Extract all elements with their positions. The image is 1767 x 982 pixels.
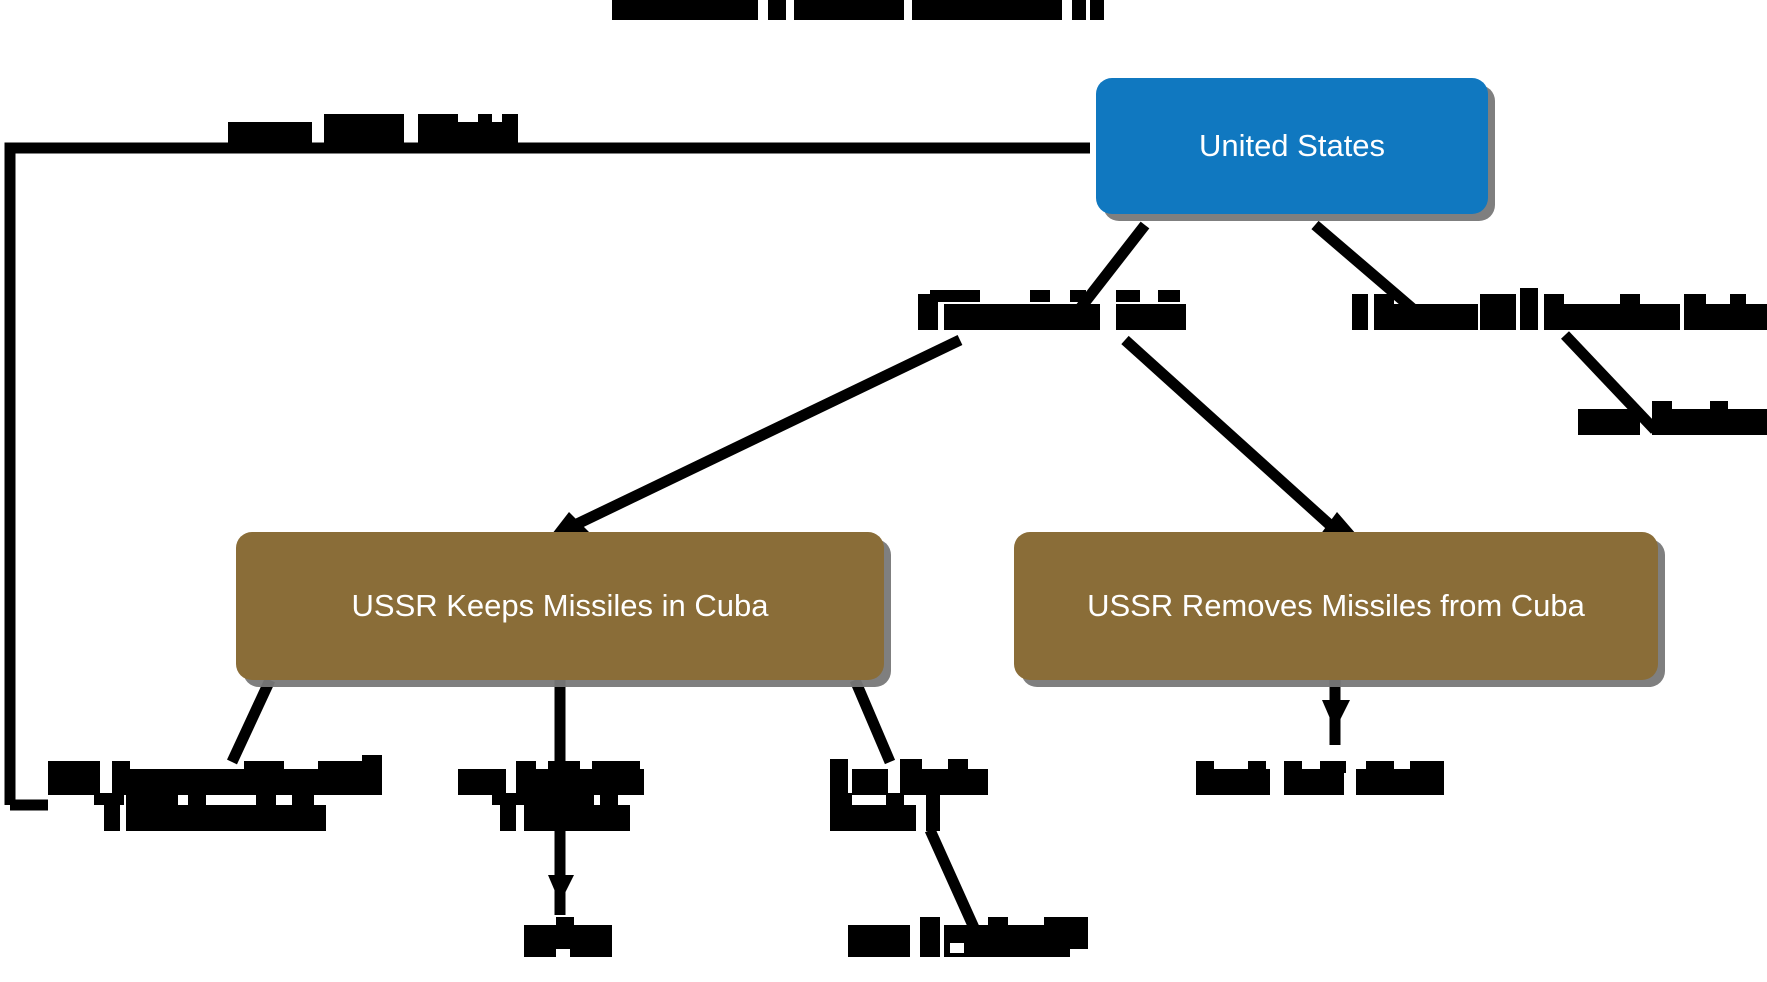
arrowhead-removes-leaf bbox=[1322, 700, 1350, 730]
leaf-bottom-3: ██ █████ ████ bbox=[830, 765, 1010, 837]
leaf-bottom-backdown: ████████ █████ bbox=[848, 925, 1088, 961]
arrowhead-keeps bbox=[552, 512, 589, 534]
edge-keeps-to-leaf3 bbox=[855, 680, 890, 762]
node-ussr-removes-missiles[interactable]: USSR Removes Missiles from Cuba bbox=[1014, 532, 1658, 680]
leaf-bottom-war: ████ bbox=[512, 925, 622, 961]
arrowhead-war bbox=[548, 875, 574, 903]
leaf-bottom-2: ███ ██████ ███████ bbox=[458, 765, 688, 837]
node-united-states-label: United States bbox=[1199, 129, 1385, 163]
node-ussr-keeps-missiles-label: USSR Keeps Missiles in Cuba bbox=[352, 589, 769, 623]
edge-label-center: ████████ ████ bbox=[918, 300, 1198, 336]
edge-label-left-top: ██ ██████ ████ bbox=[228, 118, 508, 154]
leaf-right-far: ███ ███████ bbox=[1578, 405, 1767, 441]
edge-keeps-to-leaf1 bbox=[232, 680, 270, 762]
node-united-states[interactable]: United States bbox=[1096, 78, 1488, 214]
edge-threaten-to-removes bbox=[1125, 340, 1330, 525]
diagram-canvas: ██████ ████████ ████ ██ ██████ ████ ████… bbox=[0, 0, 1767, 982]
diagram-title: ██████ ████████ ████ bbox=[612, 0, 1112, 26]
edge-us-to-leftmost bbox=[10, 148, 1090, 805]
edge-leaf3-to-backdown bbox=[930, 830, 975, 930]
leaf-bottom-4: ███ ███ ███ bbox=[1196, 765, 1466, 801]
edge-threaten-to-keeps bbox=[575, 340, 960, 525]
node-ussr-removes-missiles-label: USSR Removes Missiles from Cuba bbox=[1087, 589, 1585, 623]
edge-label-right: ██████ ████████ █████ bbox=[1352, 300, 1767, 336]
leaf-bottom-1: ██ ████████ █████ ████████ ████ bbox=[48, 765, 388, 837]
node-ussr-keeps-missiles[interactable]: USSR Keeps Missiles in Cuba bbox=[236, 532, 884, 680]
